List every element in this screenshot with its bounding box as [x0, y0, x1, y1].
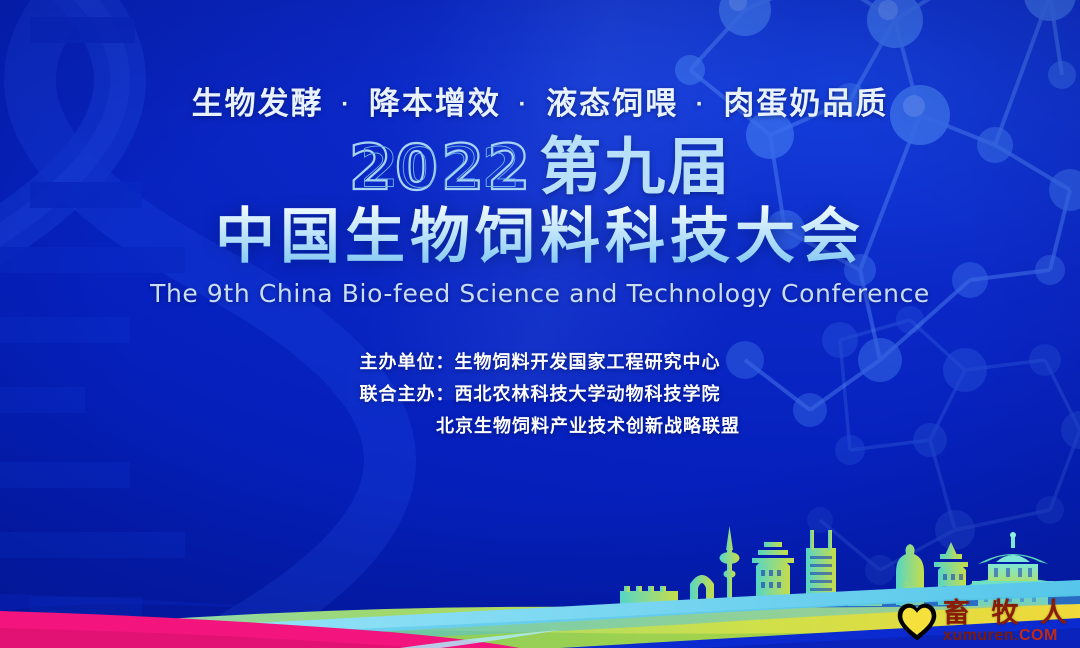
tagline: 生物发酵 · 降本增效 · 液态饲喂 · 肉蛋奶品质	[0, 78, 1080, 123]
organizer-row: 北京生物饲料产业技术创新战略联盟	[0, 410, 1080, 442]
conference-poster: 生物发酵 · 降本增效 · 液态饲喂 · 肉蛋奶品质 2022 第九届 中国生物…	[0, 0, 1080, 648]
tagline-part-3: 液态饲喂	[546, 86, 678, 121]
tagline-part-1: 生物发酵	[192, 86, 324, 121]
organizer-label: 主办单位：	[360, 352, 455, 372]
year-label: 2022	[349, 137, 534, 199]
watermark-domain: xumuren.COM	[943, 628, 1074, 644]
tagline-part-4: 肉蛋奶品质	[723, 86, 888, 121]
organizer-value: 西北农林科技大学动物科技学院	[455, 384, 721, 404]
watermark-text: 畜 牧 人 xumuren.COM	[943, 600, 1074, 644]
page-title: 中国生物饲料科技大会	[0, 205, 1080, 269]
heart-icon	[895, 600, 939, 644]
tagline-separator-3: ·	[689, 91, 713, 118]
edition-line: 2022 第九届	[0, 137, 1080, 199]
organizer-row: 联合主办：西北农林科技大学动物科技学院	[0, 378, 1080, 410]
poster-content: 生物发酵 · 降本增效 · 液态饲喂 · 肉蛋奶品质 2022 第九届 中国生物…	[0, 0, 1080, 442]
tagline-separator-1: ·	[334, 91, 358, 118]
organizers-block: 主办单位：生物饲料开发国家工程研究中心 联合主办：西北农林科技大学动物科技学院 …	[0, 346, 1080, 442]
organizer-value: 北京生物饲料产业技术创新战略联盟	[436, 416, 740, 436]
organizer-value: 生物饲料开发国家工程研究中心	[455, 352, 721, 372]
organizer-row: 主办单位：生物饲料开发国家工程研究中心	[0, 346, 1080, 378]
watermark-domain-tld: COM	[1019, 627, 1058, 644]
tagline-part-2: 降本增效	[369, 86, 501, 121]
subtitle-english: The 9th China Bio-feed Science and Techn…	[0, 279, 1080, 308]
tagline-separator-2: ·	[512, 91, 536, 118]
watermark: 畜 牧 人 xumuren.COM	[895, 600, 1074, 644]
edition-ordinal: 第九届	[539, 137, 731, 199]
organizer-label: 联合主办：	[360, 384, 455, 404]
watermark-domain-name: xumuren.	[943, 627, 1019, 644]
watermark-chinese: 畜 牧 人	[943, 600, 1074, 627]
